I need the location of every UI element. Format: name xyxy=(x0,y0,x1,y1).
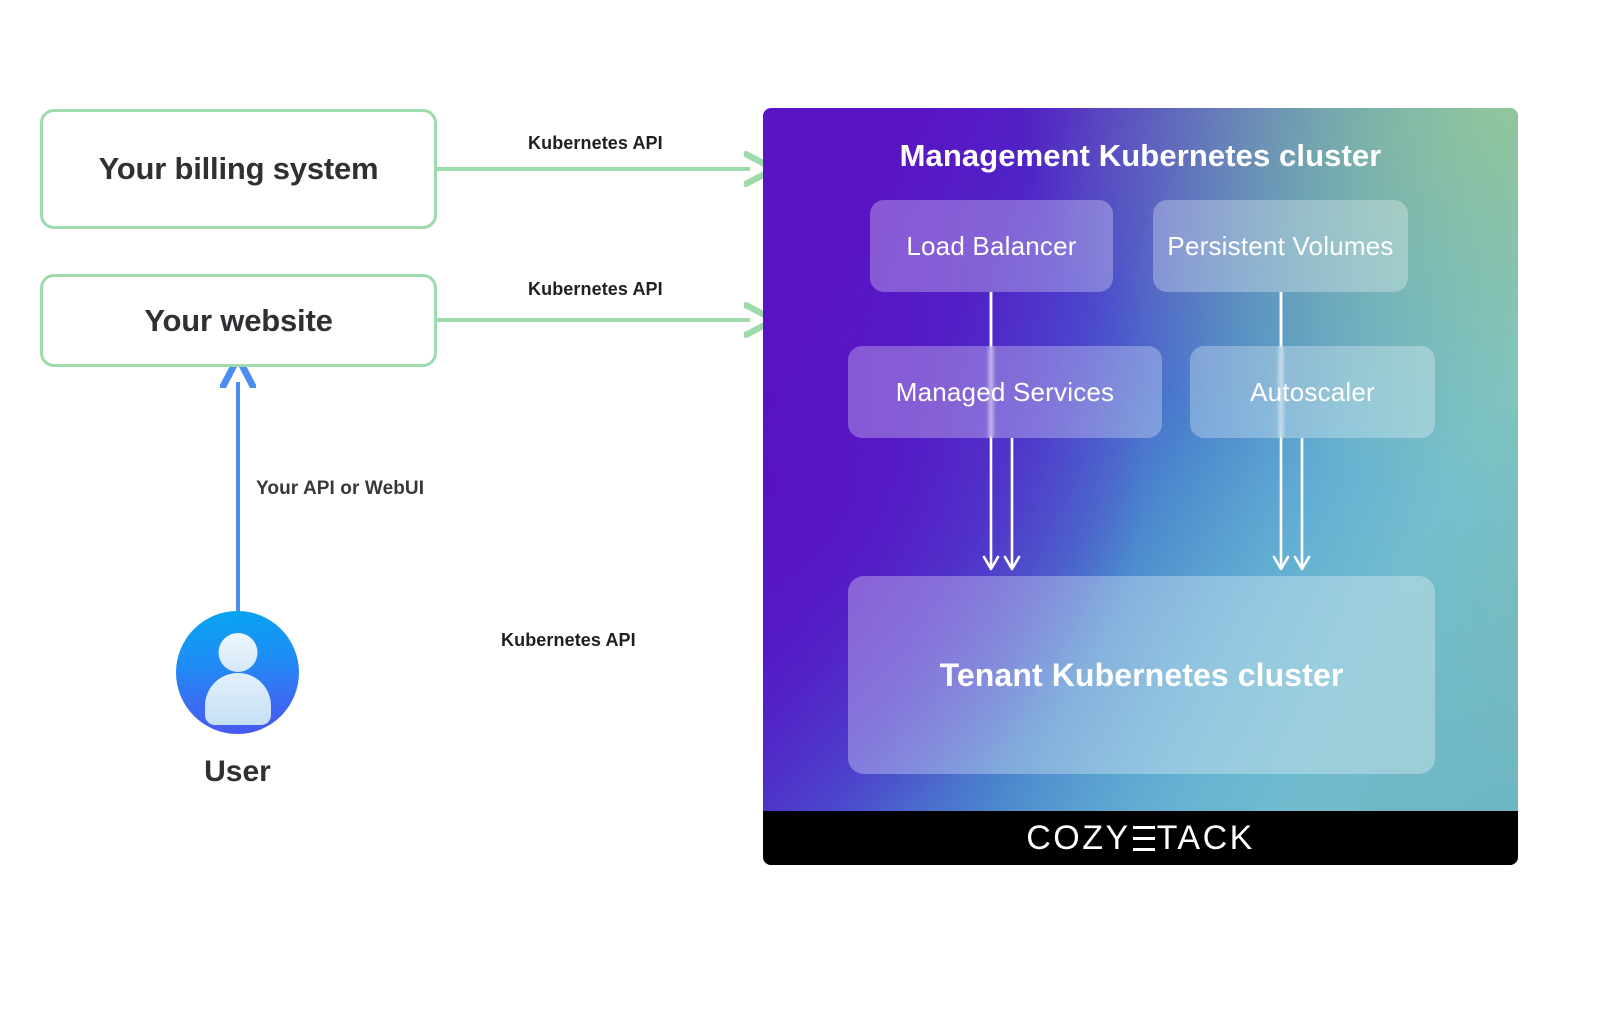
billing-system-label: Your billing system xyxy=(99,151,379,187)
logo-e-bar-icon xyxy=(1133,826,1155,851)
edge-label-kubernetes-api-3: Kubernetes API xyxy=(501,630,636,651)
diagram-canvas: Your billing system Your website Kuberne… xyxy=(0,0,1617,1024)
billing-system-box[interactable]: Your billing system xyxy=(40,109,437,229)
logo-prefix: COZY xyxy=(1026,819,1130,858)
brand-footer: COZY TACK xyxy=(763,811,1518,865)
tenant-cluster-box[interactable]: Tenant Kubernetes cluster xyxy=(848,576,1435,774)
component-autoscaler[interactable]: Autoscaler xyxy=(1190,346,1435,438)
management-cluster-title: Management Kubernetes cluster xyxy=(763,138,1518,174)
user-avatar[interactable] xyxy=(176,611,299,734)
load-balancer-label: Load Balancer xyxy=(906,231,1076,262)
managed-services-label: Managed Services xyxy=(896,377,1115,408)
user-label: User xyxy=(176,755,299,789)
autoscaler-label: Autoscaler xyxy=(1250,377,1375,408)
cozystack-logo: COZY TACK xyxy=(1026,819,1255,858)
component-load-balancer[interactable]: Load Balancer xyxy=(870,200,1113,292)
tenant-cluster-label: Tenant Kubernetes cluster xyxy=(940,657,1344,694)
component-managed-services[interactable]: Managed Services xyxy=(848,346,1162,438)
person-icon-head xyxy=(218,633,257,672)
website-box[interactable]: Your website xyxy=(40,274,437,367)
edge-label-kubernetes-api-2: Kubernetes API xyxy=(528,279,663,300)
edge-label-your-api-or-webui: Your API or WebUI xyxy=(256,478,424,500)
website-label: Your website xyxy=(144,303,332,339)
management-cluster-panel: Management Kubernetes cluster Load Balan… xyxy=(763,108,1518,865)
logo-suffix: TACK xyxy=(1157,819,1255,858)
persistent-volumes-label: Persistent Volumes xyxy=(1167,231,1393,262)
edge-label-kubernetes-api-1: Kubernetes API xyxy=(528,133,663,154)
component-persistent-volumes[interactable]: Persistent Volumes xyxy=(1153,200,1408,292)
